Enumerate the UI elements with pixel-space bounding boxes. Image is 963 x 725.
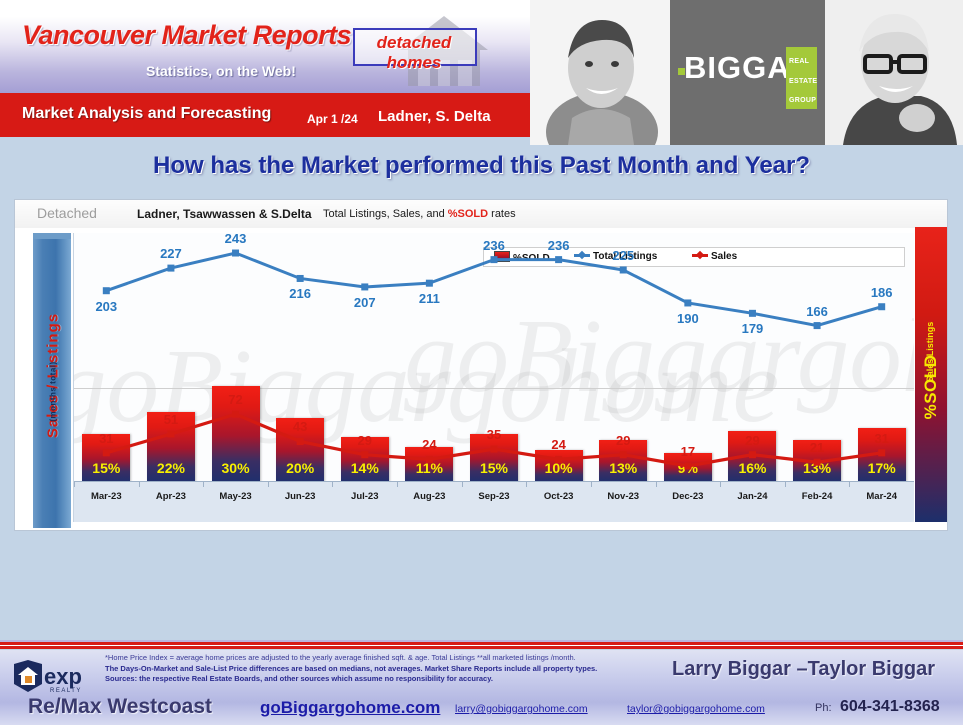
label-sales-jul-23: 29 xyxy=(351,433,379,448)
marker xyxy=(167,265,174,272)
page-title: How has the Market performed this Past M… xyxy=(0,152,963,180)
phone-label: Ph: xyxy=(815,702,832,714)
label-sales-may-23: 72 xyxy=(222,392,250,407)
marker xyxy=(684,462,691,469)
marker xyxy=(232,411,239,418)
chart-plot-area: goBiggargohome goBiggargohome %SOLD Tota… xyxy=(73,233,914,522)
label-sales-nov-23: 29 xyxy=(609,433,637,448)
marker xyxy=(814,322,821,329)
x-axis-label-jun-23: Jun-23 xyxy=(268,491,332,502)
property-type-badge: detached homes xyxy=(358,33,470,73)
label-sales-dec-23: 17 xyxy=(674,444,702,459)
page-header: Vancouver Market Reports Statistics, on … xyxy=(0,0,963,145)
svg-text:REALTY: REALTY xyxy=(50,688,82,694)
chart-property-type: Detached xyxy=(37,205,97,221)
label-listings-oct-23: 236 xyxy=(545,238,573,253)
x-axis-tick xyxy=(591,482,592,487)
x-axis-label-feb-24: Feb-24 xyxy=(785,491,849,502)
x-axis-tick xyxy=(74,482,75,487)
chart-desc-post: rates xyxy=(488,208,516,220)
brand-title: Vancouver Market Reports xyxy=(22,20,351,51)
x-axis-label-apr-23: Apr-23 xyxy=(139,491,203,502)
marker xyxy=(749,451,756,458)
label-listings-feb-24: 166 xyxy=(803,304,831,319)
x-axis-tick xyxy=(526,482,527,487)
marker xyxy=(232,250,239,257)
disclaimer-line-3: Sources: the respective Real Estate Boar… xyxy=(105,674,665,685)
chart-card-header: Detached Ladner, Tsawwassen & S.Delta To… xyxy=(15,200,947,228)
label-sales-apr-23: 51 xyxy=(157,412,185,427)
brand-subtitle: Statistics, on the Web! xyxy=(146,63,296,79)
logo-green-block: REAL ESTATE GROUP xyxy=(786,47,817,109)
header-underline xyxy=(0,137,530,145)
email-link-taylor[interactable]: taylor@gobiggargohome.com xyxy=(627,703,765,715)
footer-disclaimer: *Home Price Index = average home prices … xyxy=(105,653,665,685)
y-axis-right-panel: %SOLD Sales/Listings xyxy=(915,227,947,522)
x-axis-tick xyxy=(397,482,398,487)
line-total-listings xyxy=(106,253,881,326)
label-listings-nov-23: 225 xyxy=(609,248,637,263)
biggar-logo: BIGGAR REAL ESTATE GROUP xyxy=(670,0,825,145)
x-axis-label-may-23: May-23 xyxy=(204,491,268,502)
marker xyxy=(878,303,885,310)
label-sales-sep-23: 35 xyxy=(480,427,508,442)
x-axis-label-mar-24: Mar-24 xyxy=(850,491,914,502)
label-sales-jan-24: 29 xyxy=(738,433,766,448)
label-listings-mar-23: 203 xyxy=(92,299,120,314)
x-axis-tick xyxy=(720,482,721,487)
y-axis-left-sublabel: (months total) xyxy=(49,312,58,472)
marker xyxy=(361,283,368,290)
label-sales-jun-23: 43 xyxy=(286,419,314,434)
label-listings-sep-23: 236 xyxy=(480,238,508,253)
chart-area-label: Ladner, Tsawwassen & S.Delta xyxy=(137,207,312,221)
label-listings-jun-23: 216 xyxy=(286,286,314,301)
label-sales-aug-23: 24 xyxy=(415,437,443,452)
x-axis-tick xyxy=(462,482,463,487)
x-axis-label-oct-23: Oct-23 xyxy=(527,491,591,502)
marker xyxy=(297,438,304,445)
marker xyxy=(491,446,498,453)
label-sales-feb-24: 21 xyxy=(803,440,831,455)
x-axis-tick xyxy=(849,482,850,487)
label-sales-mar-24: 31 xyxy=(868,431,896,446)
exp-realty-logo-icon: exp REALTY xyxy=(10,658,102,696)
marker xyxy=(814,459,821,466)
x-axis-band: Mar-23Apr-23May-23Jun-23Jul-23Aug-23Sep-… xyxy=(74,481,914,522)
marker xyxy=(620,451,627,458)
x-axis-label-dec-23: Dec-23 xyxy=(656,491,720,502)
marker xyxy=(491,256,498,263)
marker xyxy=(103,287,110,294)
agent-photo-left xyxy=(530,0,670,145)
website-link[interactable]: goBiggargohome.com xyxy=(260,698,440,718)
marker xyxy=(426,280,433,287)
x-axis-label-jan-24: Jan-24 xyxy=(720,491,784,502)
chart-description: Total Listings, Sales, and %SOLD rates xyxy=(323,208,516,220)
phone-number: 604-341-8368 xyxy=(840,698,940,716)
x-axis-label-aug-23: Aug-23 xyxy=(397,491,461,502)
chart-card: Detached Ladner, Tsawwassen & S.Delta To… xyxy=(15,200,947,530)
footer-rules xyxy=(0,640,963,650)
marker xyxy=(103,449,110,456)
marker xyxy=(361,451,368,458)
chart-desc-pre: Total Listings, Sales, and xyxy=(323,208,448,220)
x-axis-tick xyxy=(785,482,786,487)
label-listings-dec-23: 190 xyxy=(674,311,702,326)
x-axis-label-nov-23: Nov-23 xyxy=(591,491,655,502)
x-axis-label-mar-23: Mar-23 xyxy=(74,491,138,502)
label-listings-mar-24: 186 xyxy=(868,285,896,300)
svg-text:exp: exp xyxy=(44,664,82,689)
label-listings-aug-23: 211 xyxy=(415,291,443,306)
marker xyxy=(749,310,756,317)
x-axis-tick xyxy=(139,482,140,487)
page-footer: exp REALTY *Home Price Index = average h… xyxy=(0,650,963,725)
logo-line-2: ESTATE xyxy=(786,67,817,87)
marker xyxy=(297,275,304,282)
y-axis-right-sublabel: Sales/Listings xyxy=(925,267,935,437)
x-axis-tick xyxy=(332,482,333,487)
logo-line-1: REAL xyxy=(786,47,817,67)
x-axis-tick xyxy=(268,482,269,487)
email-link-larry[interactable]: larry@gobiggargohome.com xyxy=(455,703,588,715)
label-listings-apr-23: 227 xyxy=(157,246,185,261)
marker xyxy=(620,266,627,273)
report-date: Apr 1 /24 xyxy=(307,112,358,126)
label-sales-mar-23: 31 xyxy=(92,431,120,446)
chart-desc-emphasis: %SOLD xyxy=(448,208,488,220)
marker xyxy=(555,456,562,463)
agent-names: Larry Biggar –Taylor Biggar xyxy=(672,658,935,681)
label-listings-jul-23: 207 xyxy=(351,295,379,310)
label-sales-oct-23: 24 xyxy=(545,437,573,452)
marker xyxy=(684,299,691,306)
marker xyxy=(426,456,433,463)
x-axis-tick xyxy=(656,482,657,487)
marker xyxy=(878,449,885,456)
x-axis-label-sep-23: Sep-23 xyxy=(462,491,526,502)
header-brand-panel: Vancouver Market Reports Statistics, on … xyxy=(0,0,530,145)
x-axis-label-jul-23: Jul-23 xyxy=(333,491,397,502)
header-red-band-title: Market Analysis and Forecasting xyxy=(22,105,271,123)
x-axis-tick xyxy=(203,482,204,487)
disclaimer-line-1: *Home Price Index = average home prices … xyxy=(105,653,665,664)
label-listings-may-23: 243 xyxy=(222,231,250,246)
logo-line-3: GROUP xyxy=(786,86,817,106)
label-listings-jan-24: 179 xyxy=(738,321,766,336)
y-axis-left-panel: Sales / Listings (months total) xyxy=(33,233,71,528)
brokerage-name: Re/Max Westcoast xyxy=(28,695,212,719)
marker xyxy=(167,430,174,437)
agent-photo-right xyxy=(825,0,963,145)
marker xyxy=(555,256,562,263)
line-series-group xyxy=(74,233,914,522)
report-area: Ladner, S. Delta xyxy=(378,108,491,125)
disclaimer-line-2: The Days-On-Market and Sale-List Price d… xyxy=(105,664,665,675)
